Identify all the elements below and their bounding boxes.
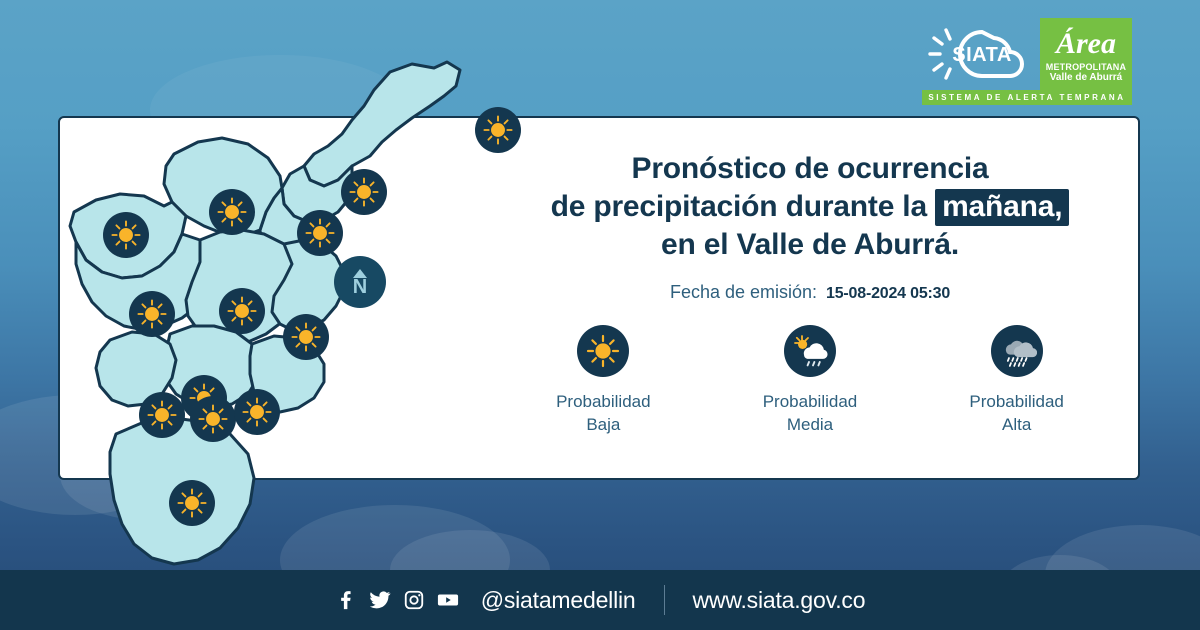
- marker-envigado: [283, 314, 329, 360]
- marker-bello-norte: [103, 212, 149, 258]
- marker-la-estrella: [139, 392, 185, 438]
- social-handle[interactable]: @siatamedellin: [481, 587, 636, 614]
- title-highlight-period: mañana,: [935, 189, 1069, 226]
- marker-copacabana: [297, 210, 343, 256]
- legend-label-line2: Alta: [927, 413, 1107, 436]
- forecast-text-block: Pronóstico de ocurrencia de precipitació…: [500, 150, 1120, 303]
- title-line-3: en el Valle de Aburrá.: [500, 226, 1120, 264]
- valle-de-aburra-map: N: [52, 34, 472, 574]
- rain-cloud-icon: [991, 325, 1043, 377]
- title-line-2-text: de precipitación durante la: [551, 190, 927, 223]
- legend-label-line1: Probabilidad: [927, 390, 1107, 413]
- legend-label-baja: Probabilidad Baja: [513, 390, 693, 436]
- website-link[interactable]: www.siata.gov.co: [693, 587, 866, 614]
- area-logo-line2: Valle de Aburrá: [1040, 72, 1132, 83]
- issue-date-value: 15-08-2024 05:30: [826, 285, 950, 303]
- marker-girardota: [341, 169, 387, 215]
- siata-tagline: SISTEMA DE ALERTA TEMPRANA: [922, 90, 1132, 105]
- legend-label-line2: Media: [720, 413, 900, 436]
- title-line-2: de precipitación durante la mañana,: [500, 188, 1120, 226]
- area-logo-line1: METROPOLITANA: [1040, 62, 1132, 72]
- marker-san-pedro: [209, 189, 255, 235]
- facebook-icon[interactable]: [335, 589, 357, 611]
- area-metropolitana-logo: Área METROPOLITANA Valle de Aburrá: [1040, 18, 1132, 90]
- legend-label-media: Probabilidad Media: [720, 390, 900, 436]
- issue-date-row: Fecha de emisión: 15-08-2024 05:30: [500, 282, 1120, 303]
- poster: N Pronóstico de ocurrencia de precipitac…: [0, 0, 1200, 630]
- legend-label-line1: Probabilidad: [720, 390, 900, 413]
- legend-item-media: Probabilidad Media: [720, 325, 900, 436]
- probability-legend: Probabilidad Baja: [500, 325, 1120, 436]
- footer-bar: @siatamedellin www.siata.gov.co: [0, 570, 1200, 630]
- marker-barbosa: [475, 107, 521, 153]
- marker-caldas-sur: [169, 480, 215, 526]
- marker-bello: [129, 291, 175, 337]
- compass-rose: N: [334, 256, 386, 308]
- legend-label-line1: Probabilidad: [513, 390, 693, 413]
- page-title: Pronóstico de ocurrencia de precipitació…: [500, 150, 1120, 264]
- youtube-icon[interactable]: [437, 589, 459, 611]
- sun-icon: [577, 325, 629, 377]
- logo-group: SIATA Área METROPOLITANA Valle de Aburrá: [922, 18, 1132, 90]
- legend-item-baja: Probabilidad Baja: [513, 325, 693, 436]
- marker-caldas: [234, 389, 280, 435]
- twitter-icon[interactable]: [369, 589, 391, 611]
- title-line-1: Pronóstico de ocurrencia: [500, 150, 1120, 188]
- issue-date-label: Fecha de emisión:: [670, 282, 817, 303]
- svg-text:Área: Área: [1054, 27, 1116, 60]
- marker-medellin: [219, 288, 265, 334]
- marker-sabaneta: [190, 396, 236, 442]
- sun-rain-cloud-icon: [784, 325, 836, 377]
- legend-label-alta: Probabilidad Alta: [927, 390, 1107, 436]
- compass-north-label: N: [353, 279, 367, 296]
- svg-text:SIATA: SIATA: [952, 44, 1012, 66]
- legend-label-line2: Baja: [513, 413, 693, 436]
- legend-item-alta: Probabilidad Alta: [927, 325, 1107, 436]
- siata-logo: SIATA: [922, 18, 1040, 90]
- instagram-icon[interactable]: [403, 589, 425, 611]
- social-links: [335, 589, 459, 611]
- footer-divider: [664, 585, 665, 615]
